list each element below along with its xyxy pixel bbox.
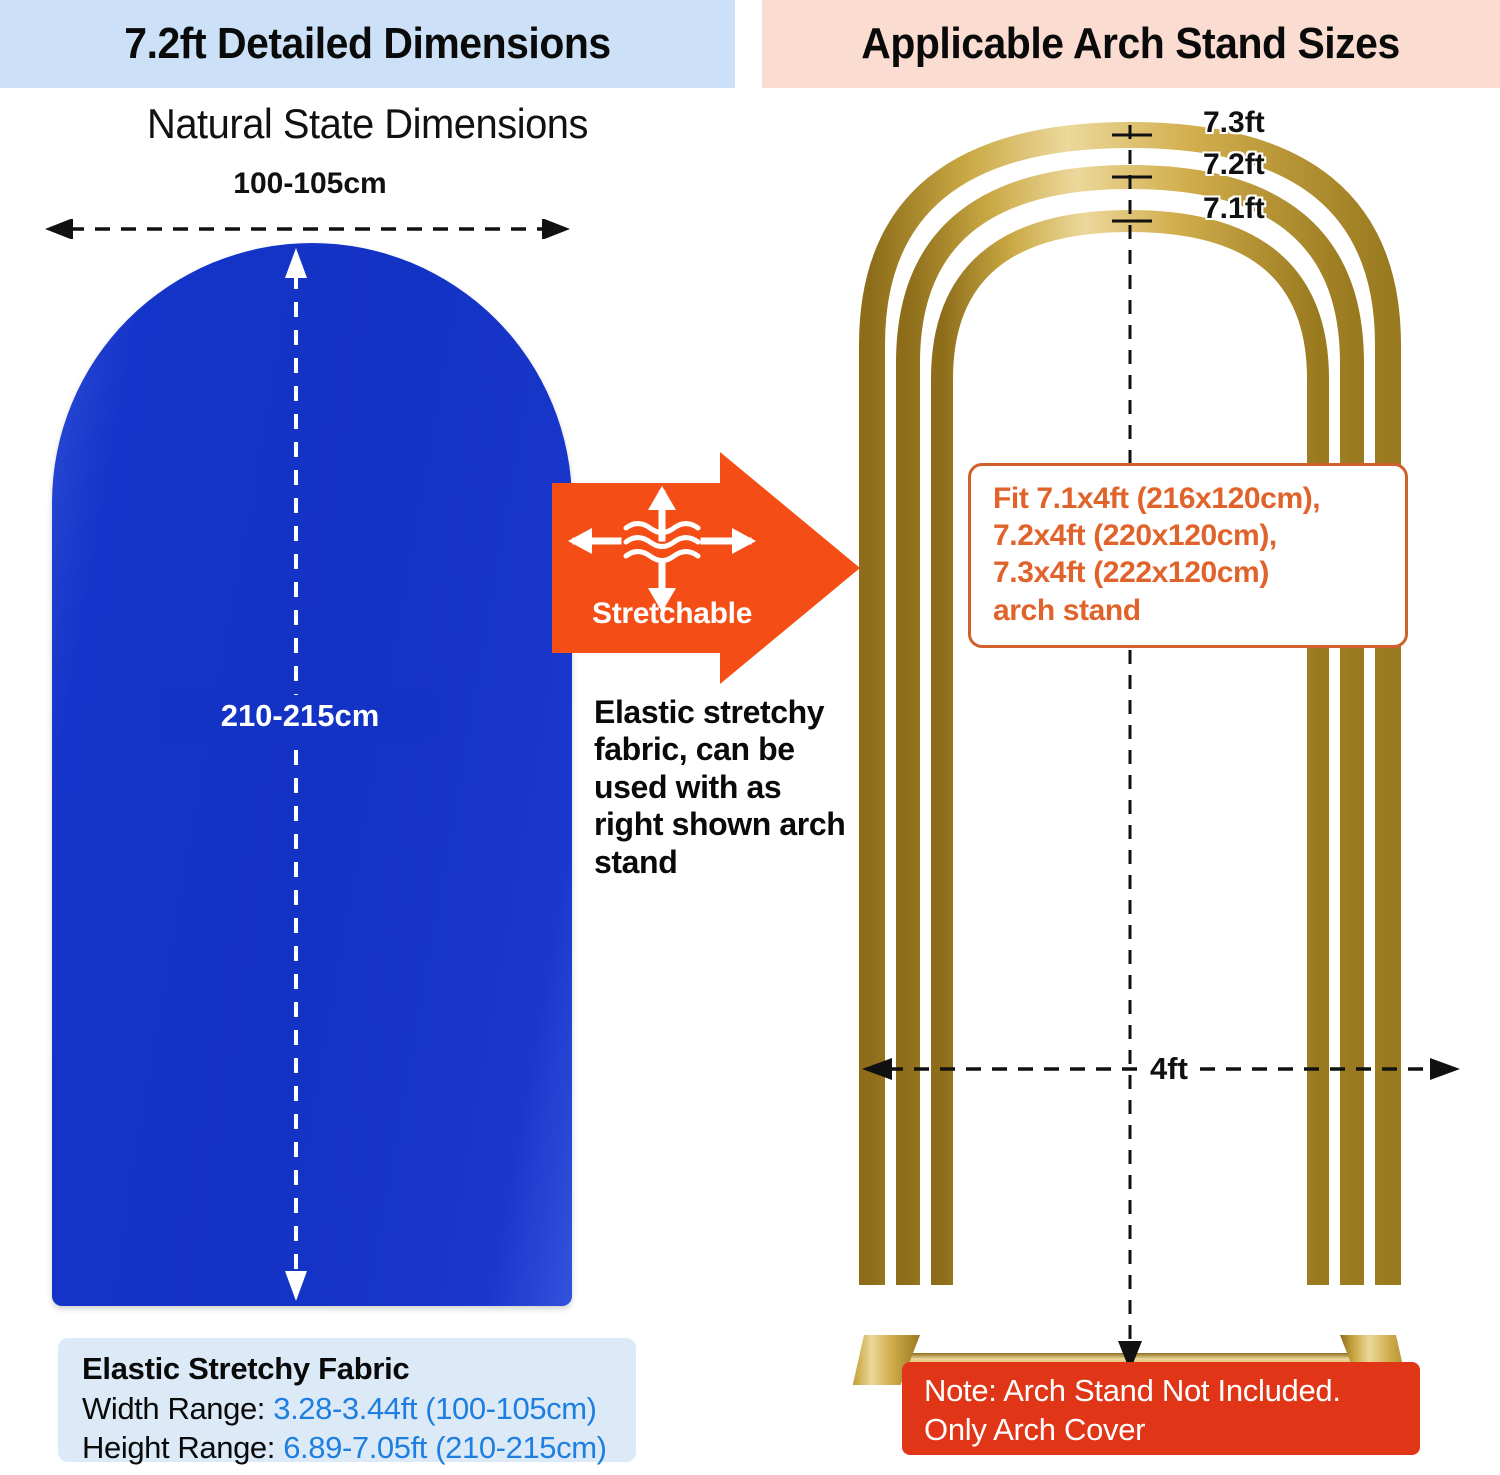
natural-state-subtitle: Natural State Dimensions bbox=[18, 100, 716, 148]
fabric-height-range-value: 6.89-7.05ft (210-215cm) bbox=[283, 1430, 606, 1465]
arch-height-label-7-3: 7.3ft bbox=[1203, 106, 1265, 140]
stretchable-label: Stretchable bbox=[592, 597, 752, 631]
not-included-note-box: Note: Arch Stand Not Included. Only Arch… bbox=[902, 1362, 1420, 1455]
fabric-width-range-value: 3.28-3.44ft (100-105cm) bbox=[273, 1391, 596, 1426]
width-dimension-arrow-icon bbox=[45, 219, 570, 239]
height-dimension-arrow-icon bbox=[284, 248, 308, 1301]
header-title-left: 7.2ft Detailed Dimensions bbox=[124, 19, 610, 69]
fabric-spec-title: Elastic Stretchy Fabric bbox=[82, 1350, 636, 1389]
arch-height-label-7-1: 7.1ft bbox=[1203, 192, 1265, 226]
header-title-right: Applicable Arch Stand Sizes bbox=[862, 19, 1400, 69]
stand-width-label: 4ft bbox=[1140, 1051, 1198, 1087]
fabric-width-range-row: Width Range: 3.28-3.44ft (100-105cm) bbox=[82, 1389, 636, 1428]
header-banner-right: Applicable Arch Stand Sizes bbox=[762, 0, 1500, 88]
arch-height-label-7-2: 7.2ft bbox=[1203, 148, 1265, 182]
width-dimension-label: 100-105cm bbox=[0, 167, 620, 201]
fabric-height-range-key: Height Range: bbox=[82, 1430, 283, 1465]
header-banner-left: 7.2ft Detailed Dimensions bbox=[0, 0, 735, 88]
fabric-spec-box: Elastic Stretchy Fabric Width Range: 3.2… bbox=[58, 1338, 636, 1462]
fabric-height-range-row: Height Range: 6.89-7.05ft (210-215cm) bbox=[82, 1428, 636, 1467]
fabric-width-range-key: Width Range: bbox=[82, 1391, 273, 1426]
fit-sizes-text: Fit 7.1x4ft (216x120cm), 7.2x4ft (220x12… bbox=[993, 480, 1387, 629]
height-dimension-label: 210-215cm bbox=[160, 695, 440, 737]
not-included-note-text: Note: Arch Stand Not Included. Only Arch… bbox=[924, 1371, 1420, 1449]
arch-stand-illustration bbox=[760, 95, 1500, 1385]
fit-sizes-callout: Fit 7.1x4ft (216x120cm), 7.2x4ft (220x12… bbox=[968, 463, 1408, 648]
fabric-arch-cover-shape bbox=[52, 243, 572, 1306]
